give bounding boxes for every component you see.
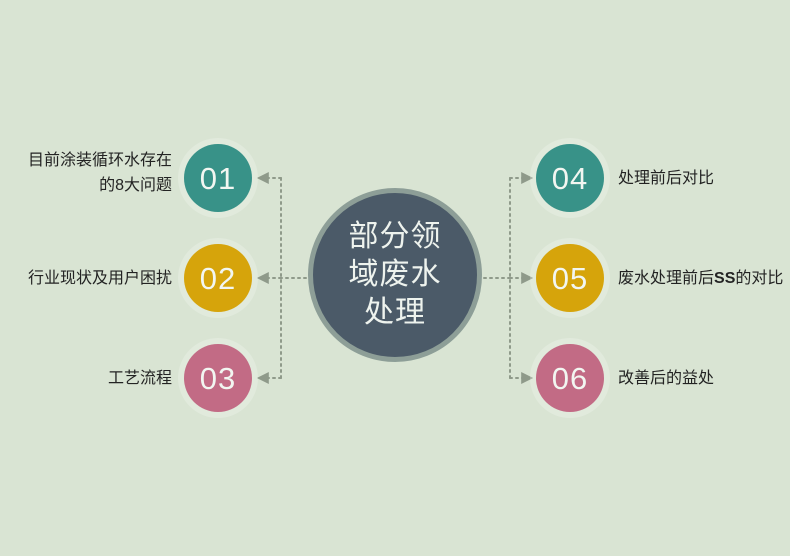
node-05-caption-suffix: 的对比 [735, 270, 783, 287]
node-01-number: 01 [200, 163, 236, 194]
node-06[interactable]: 06 [536, 344, 604, 412]
node-03-caption: 工艺流程 [108, 367, 172, 392]
node-05[interactable]: 05 [536, 244, 604, 312]
center-hub-label-line1: 部分领 [331, 218, 459, 256]
node-04-number: 04 [552, 163, 588, 194]
node-04-caption: 处理前后对比 [618, 167, 714, 192]
node-01[interactable]: 01 [184, 144, 252, 212]
node-01-caption-line1: 目前涂装循环水存在 [0, 149, 172, 174]
node-02[interactable]: 02 [184, 244, 252, 312]
node-01-caption-line2: 的8大问题 [0, 174, 172, 199]
node-05-caption-prefix: 废水处理前后 [618, 270, 714, 287]
center-hub-label-line3: 处理 [331, 294, 459, 332]
node-05-caption: 废水处理前后SS的对比 [618, 267, 783, 292]
node-05-caption-emphasis: SS [714, 270, 735, 287]
node-03-number: 03 [200, 363, 236, 394]
center-hub[interactable]: 部分领 域废水 处理 [308, 188, 482, 362]
node-02-caption: 行业现状及用户困扰 [28, 267, 172, 292]
center-hub-label: 部分领 域废水 处理 [331, 218, 459, 332]
node-04[interactable]: 04 [536, 144, 604, 212]
node-03[interactable]: 03 [184, 344, 252, 412]
node-02-number: 02 [200, 263, 236, 294]
node-01-caption: 目前涂装循环水存在 的8大问题 [0, 149, 172, 199]
center-hub-label-line2: 域废水 [331, 256, 459, 294]
infographic-diagram: 部分领 域废水 处理 01 目前涂装循环水存在 的8大问题 02 行业现状及用户… [0, 0, 790, 556]
node-06-caption: 改善后的益处 [618, 367, 714, 392]
node-06-number: 06 [552, 363, 588, 394]
node-05-number: 05 [552, 263, 588, 294]
